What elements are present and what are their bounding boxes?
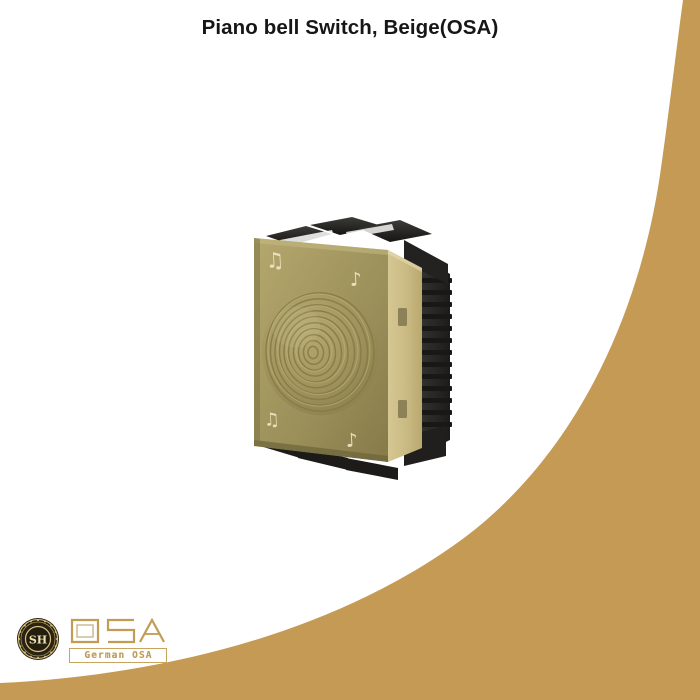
brand-tagline: German OSA xyxy=(74,650,163,661)
side-slot-upper xyxy=(398,308,407,326)
brand-seal-icon: SH xyxy=(16,617,60,661)
brand-logo: SH German OSA xyxy=(16,608,186,670)
music-note-icon-bottom-left: ♫ xyxy=(263,409,280,431)
music-note-icon-top-left: ♫ xyxy=(265,248,285,273)
music-note-icon-bottom-right: ♪ xyxy=(345,429,358,452)
side-slot-lower xyxy=(398,400,407,418)
product-image-canvas: Piano bell Switch, Beige(OSA) xyxy=(0,0,700,700)
brand-seal-initials: SH xyxy=(29,634,47,647)
osa-wordmark-icon xyxy=(69,616,177,646)
brand-wordmark: German OSA xyxy=(69,616,177,663)
product-side-panel xyxy=(388,250,422,462)
brand-tagline-box: German OSA xyxy=(69,648,167,663)
page-title: Piano bell Switch, Beige(OSA) xyxy=(0,16,700,40)
music-note-icon-top-right: ♪ xyxy=(349,268,362,291)
product-image: ♫ ♪ ♫ ♪ xyxy=(236,212,472,482)
